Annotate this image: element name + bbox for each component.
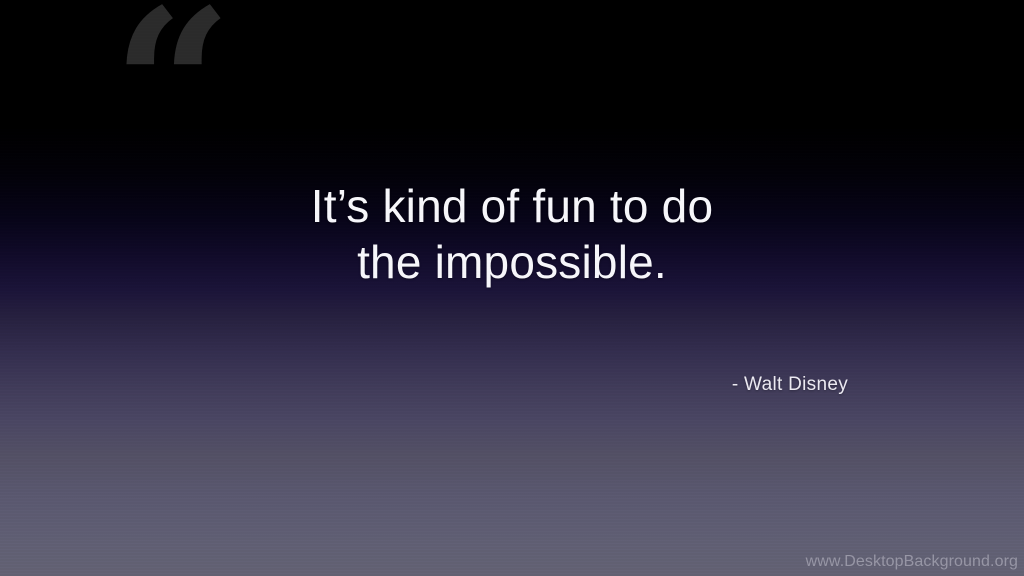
quote-line-2: the impossible. (0, 234, 1024, 290)
quote-attribution: - Walt Disney (0, 374, 848, 396)
quote-block: It’s kind of fun to do the impossible. (0, 178, 1024, 290)
quotation-mark-icon: “ (112, 0, 233, 192)
wallpaper-canvas: “ It’s kind of fun to do the impossible.… (0, 0, 1024, 576)
quote-line-1: It’s kind of fun to do (0, 178, 1024, 234)
site-watermark: www.DesktopBackground.org (806, 553, 1018, 571)
